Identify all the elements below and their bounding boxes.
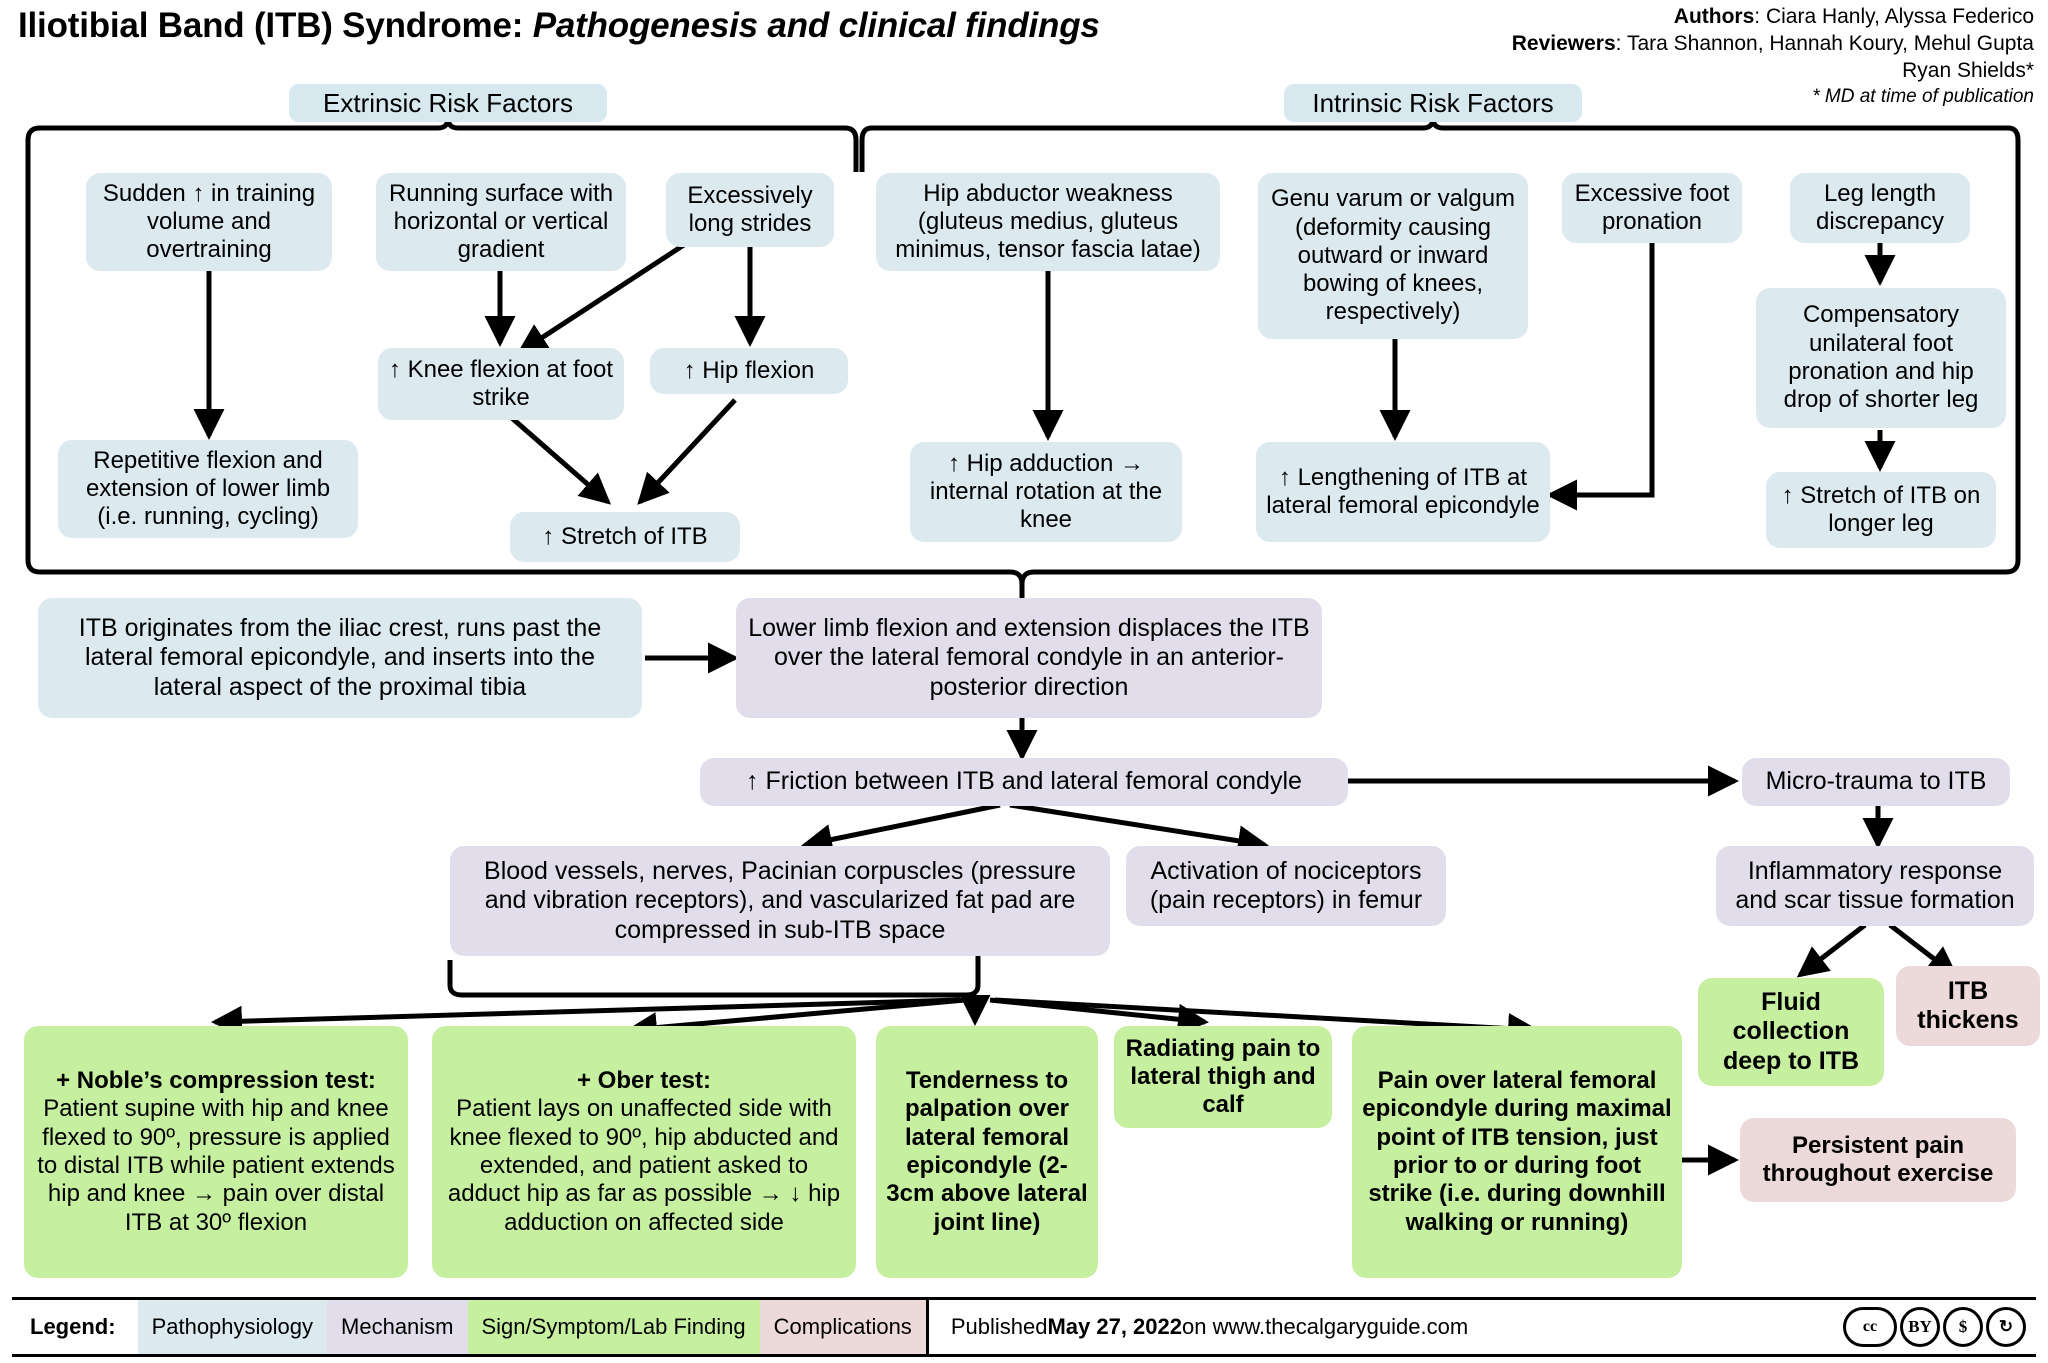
nobles-test-title: + Noble’s compression test:	[56, 1067, 376, 1094]
node-stretch-itb-longer-leg: ↑ Stretch of ITB on longer leg	[1766, 472, 1996, 548]
node-compensatory-pronation: Compensatory unilateral foot pronation a…	[1756, 288, 2006, 428]
reviewers-label: Reviewers	[1512, 32, 1616, 55]
node-nobles-compression-test: + Noble’s compression test: Patient supi…	[24, 1026, 408, 1278]
section-header-extrinsic-label: Extrinsic Risk Factors	[299, 88, 597, 119]
node-leg-length-discrepancy: Leg length discrepancy	[1790, 173, 1970, 243]
node-genu-varum-valgum: Genu varum or valgum (deformity causing …	[1258, 173, 1528, 339]
node-inflammatory-response: Inflammatory response and scar tissue fo…	[1716, 846, 2034, 926]
published-date: May 27, 2022	[1047, 1314, 1182, 1340]
node-lower-limb-displacement: Lower limb flexion and extension displac…	[736, 598, 1322, 718]
node-excessively-long-strides: Excessively long strides	[666, 173, 834, 247]
node-pain-over-epicondyle: Pain over lateral femoral epicondyle dur…	[1352, 1026, 1682, 1278]
node-itb-origin: ITB originates from the iliac crest, run…	[38, 598, 642, 718]
node-stretch-of-itb: ↑ Stretch of ITB	[510, 512, 740, 562]
node-persistent-pain: Persistent pain throughout exercise	[1740, 1118, 2016, 1202]
publication-footnote: * MD at time of publication	[1512, 85, 2034, 109]
section-header-extrinsic: Extrinsic Risk Factors	[289, 84, 607, 122]
node-ober-test: + Ober test: Patient lays on unaffected …	[432, 1026, 856, 1278]
legend-item-sign-symptom: Sign/Symptom/Lab Finding	[468, 1300, 760, 1354]
node-knee-flexion-foot-strike: ↑ Knee flexion at foot strike	[378, 348, 624, 420]
authors-value: : Ciara Hanly, Alyssa Federico	[1754, 5, 2034, 28]
node-fluid-collection: Fluid collection deep to ITB	[1698, 978, 1884, 1086]
reviewers-value: : Tara Shannon, Hannah Koury, Mehul Gupt…	[1616, 32, 2034, 55]
node-running-surface: Running surface with horizontal or verti…	[376, 173, 626, 271]
node-sudden-increase-training: Sudden ↑ in training volume and overtrai…	[86, 173, 332, 271]
reviewers-line: Reviewers: Tara Shannon, Hannah Koury, M…	[1512, 31, 2034, 58]
publication-info: Published May 27, 2022 on www.thecalgary…	[926, 1300, 1843, 1354]
cc-by-icon: BY	[1900, 1307, 1940, 1347]
node-lengthening-itb: ↑ Lengthening of ITB at lateral femoral …	[1256, 442, 1550, 542]
node-hip-adduction-internal-rotation: ↑ Hip adduction → internal rotation at t…	[910, 442, 1182, 542]
published-prefix: Published	[951, 1314, 1048, 1340]
legend-item-complications: Complications	[760, 1300, 926, 1354]
ober-test-body: Patient lays on unaffected side with kne…	[444, 1095, 844, 1237]
node-micro-trauma: Micro-trauma to ITB	[1742, 758, 2010, 806]
cc-logo-icon: cc	[1843, 1307, 1897, 1347]
node-nociceptor-activation: Activation of nociceptors (pain receptor…	[1126, 846, 1446, 926]
node-increased-friction: ↑ Friction between ITB and lateral femor…	[700, 758, 1348, 806]
node-hip-flexion: ↑ Hip flexion	[650, 348, 848, 394]
authors-label: Authors	[1674, 5, 1755, 28]
node-itb-thickens: ITB thickens	[1896, 966, 2040, 1046]
reviewers-line2: Ryan Shields*	[1512, 58, 2034, 85]
creative-commons-license-icon[interactable]: cc BY $ ↻	[1843, 1300, 2036, 1354]
node-hip-abductor-weakness: Hip abductor weakness (gluteus medius, g…	[876, 173, 1220, 271]
node-tenderness-palpation: Tenderness to palpation over lateral fem…	[876, 1026, 1098, 1278]
legend-item-mechanism: Mechanism	[327, 1300, 467, 1354]
section-header-intrinsic: Intrinsic Risk Factors	[1284, 84, 1582, 122]
node-radiating-pain: Radiating pain to lateral thigh and calf	[1114, 1026, 1332, 1128]
authors-line: Authors: Ciara Hanly, Alyssa Federico	[1512, 4, 2034, 31]
node-blood-vessels-compressed: Blood vessels, nerves, Pacinian corpuscl…	[450, 846, 1110, 956]
nobles-test-body: Patient supine with hip and knee flexed …	[36, 1095, 396, 1237]
title-subtitle: Pathogenesis and clinical findings	[533, 6, 1100, 45]
published-suffix: on www.thecalgaryguide.com	[1182, 1314, 1468, 1340]
node-repetitive-flexion-extension: Repetitive flexion and extension of lowe…	[58, 440, 358, 538]
node-excessive-foot-pronation: Excessive foot pronation	[1562, 173, 1742, 243]
authors-block: Authors: Ciara Hanly, Alyssa Federico Re…	[1512, 4, 2034, 109]
legend-item-pathophysiology: Pathophysiology	[138, 1300, 327, 1354]
cc-sa-icon: ↻	[1986, 1307, 2026, 1347]
section-header-intrinsic-label: Intrinsic Risk Factors	[1294, 88, 1572, 119]
legend-label: Legend:	[12, 1300, 138, 1354]
page-title: Iliotibial Band (ITB) Syndrome: Pathogen…	[18, 6, 1100, 46]
title-main: Iliotibial Band (ITB) Syndrome:	[18, 6, 533, 45]
cc-nc-icon: $	[1943, 1307, 1983, 1347]
diagram-canvas: Iliotibial Band (ITB) Syndrome: Pathogen…	[0, 0, 2048, 1363]
legend-bar: Legend: Pathophysiology Mechanism Sign/S…	[12, 1297, 2036, 1357]
ober-test-title: + Ober test:	[577, 1067, 711, 1094]
